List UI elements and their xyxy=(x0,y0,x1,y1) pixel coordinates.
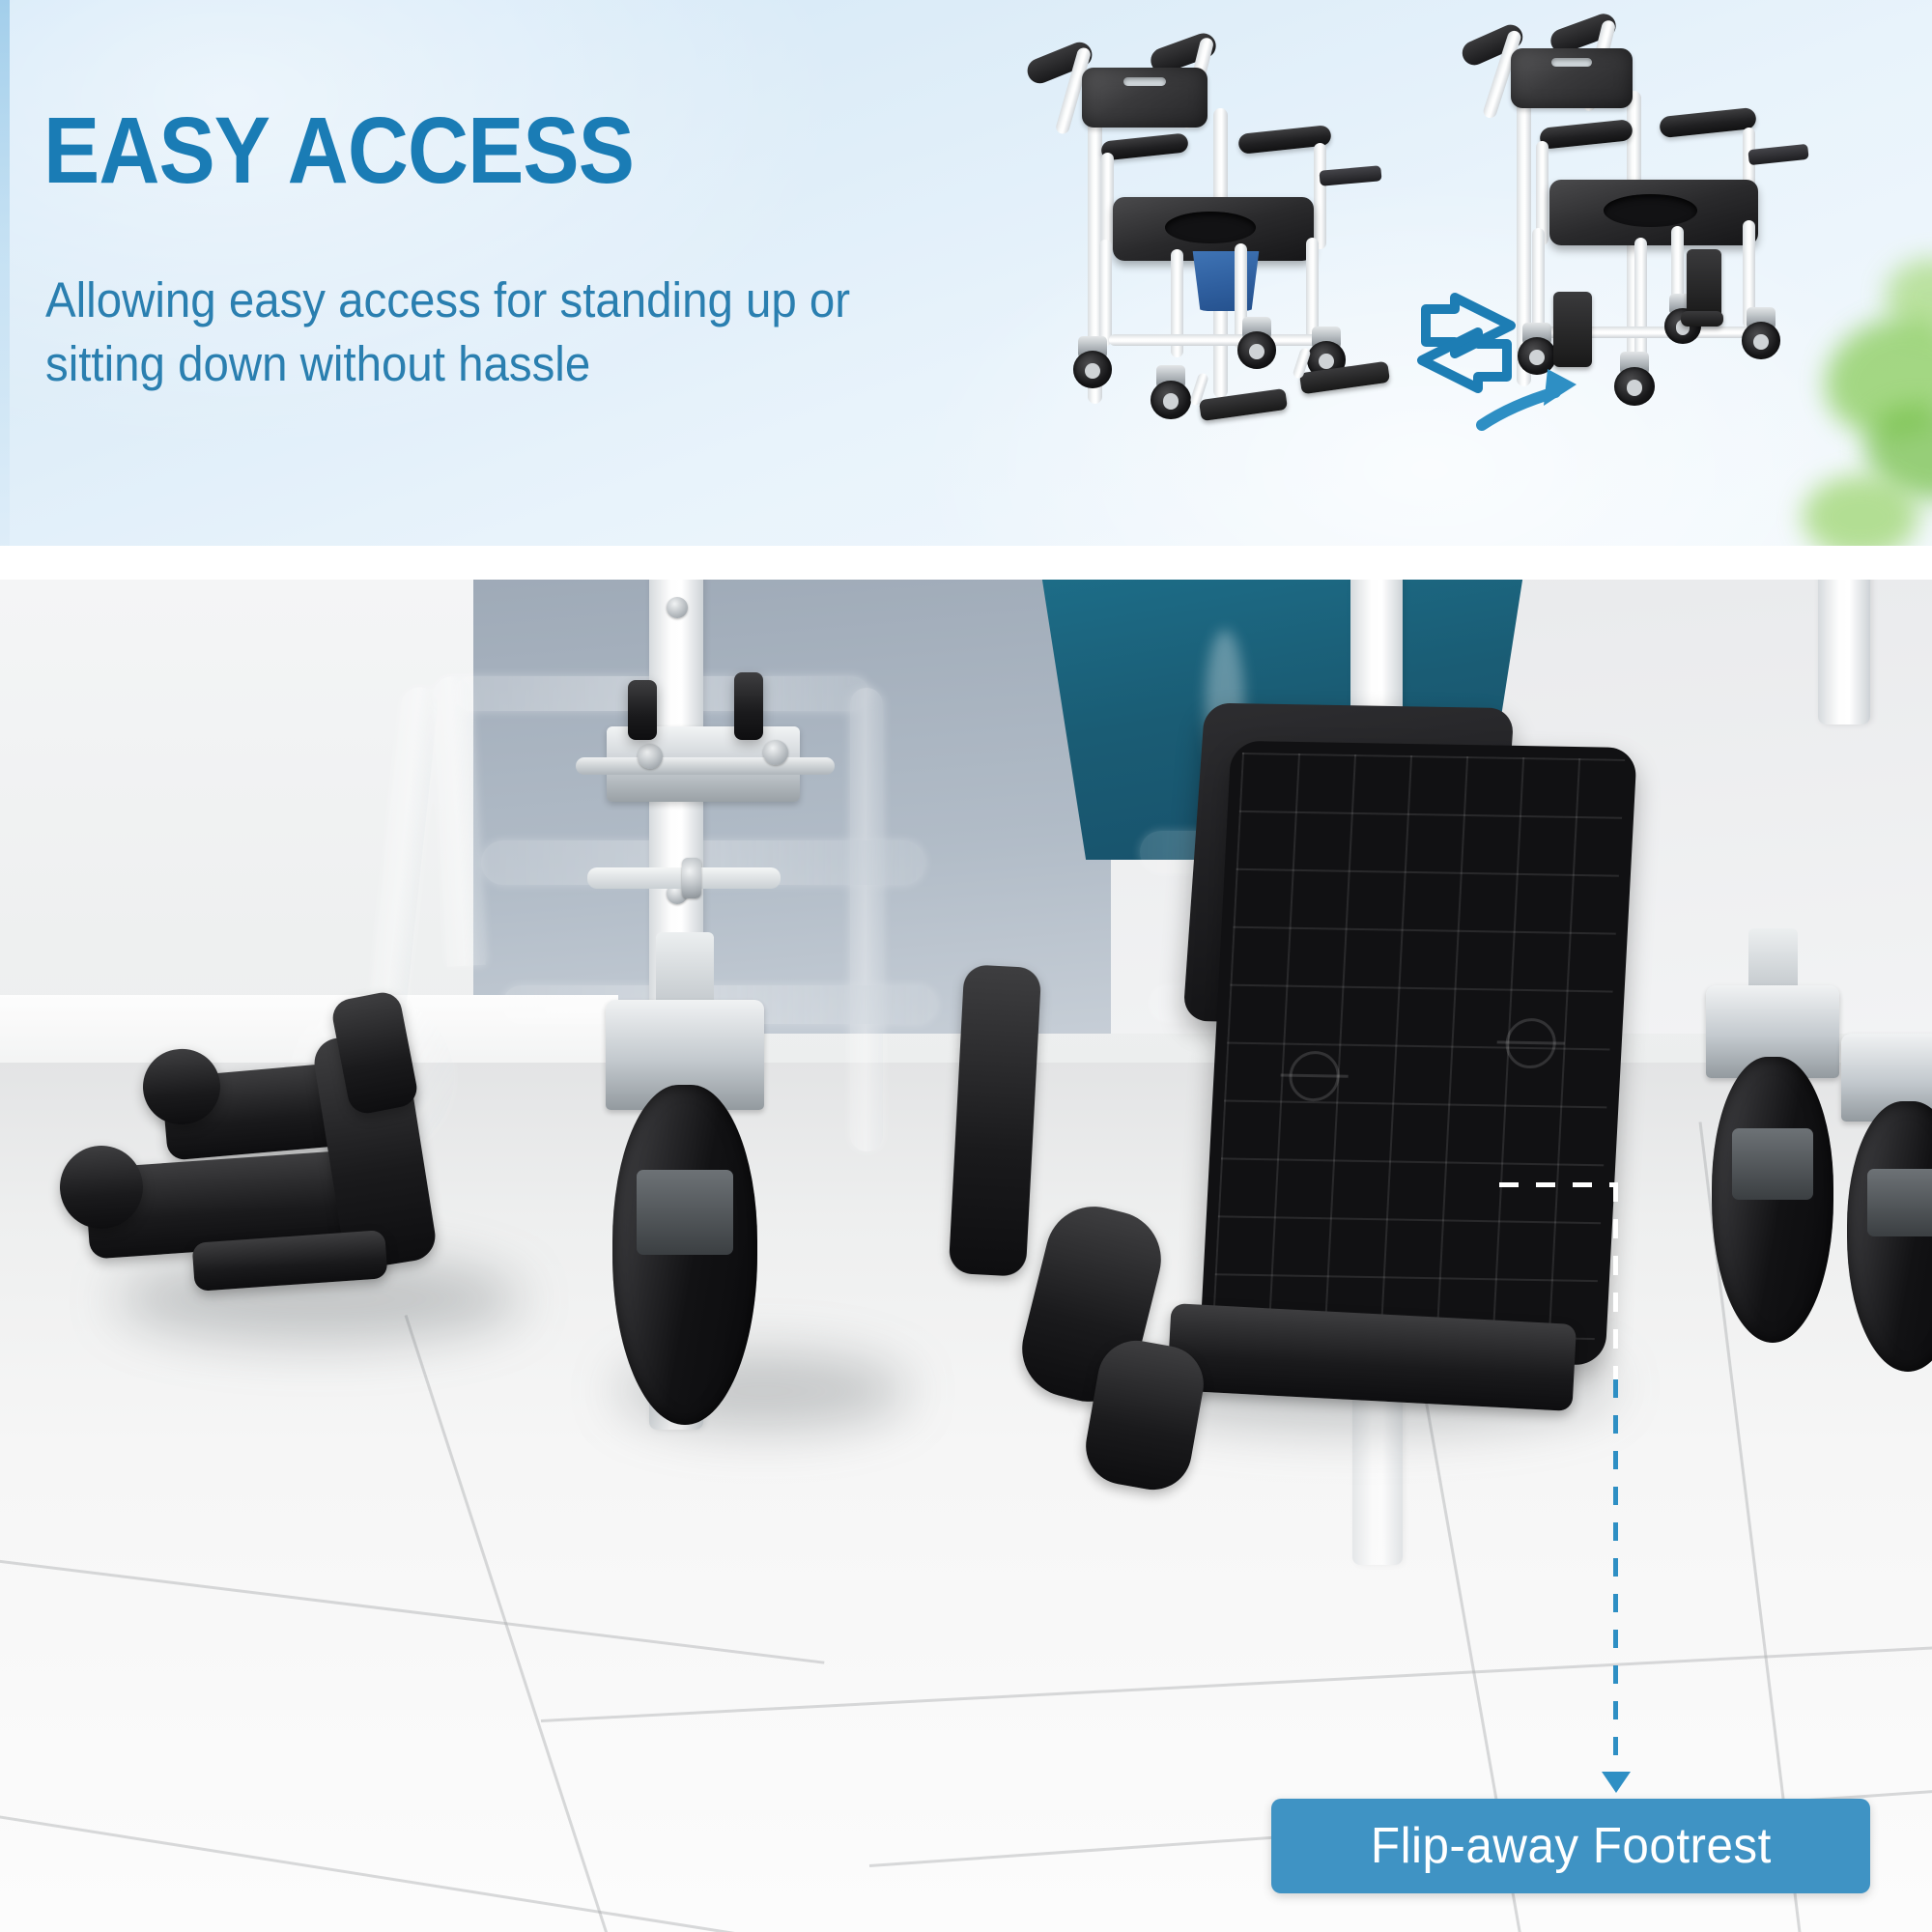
feature-banner: EASY ACCESS Allowing easy access for sta… xyxy=(0,0,1932,546)
frame-tube xyxy=(1314,143,1326,249)
frame-upright-tube xyxy=(1818,580,1870,724)
callout-leader-blue-vertical xyxy=(1613,1379,1618,1783)
banner-left-edge xyxy=(0,0,10,546)
caster-tyre xyxy=(612,1085,757,1425)
ghost-frame-tube xyxy=(850,688,883,1151)
backrest-pad xyxy=(1082,68,1207,128)
curved-flip-arrow-icon xyxy=(1476,342,1611,431)
callout-badge: Flip-away Footrest xyxy=(1271,1799,1870,1893)
wall-panel-grey xyxy=(473,580,1111,1034)
footrest-grid-texture xyxy=(1211,753,1625,1353)
hinge-tab xyxy=(734,672,763,740)
callout-leader-white-horizontal xyxy=(1499,1182,1617,1187)
frame-tube xyxy=(1306,238,1319,340)
release-lever xyxy=(1319,165,1381,186)
caster-brake-lever xyxy=(1867,1169,1932,1236)
caster-wheel xyxy=(1235,317,1279,369)
commode-seat xyxy=(1549,180,1758,245)
caster-tyre xyxy=(1847,1101,1932,1372)
callout-leader-white-vertical xyxy=(1613,1182,1618,1381)
caster-hub xyxy=(1085,363,1100,379)
thumbnail-chair-footrests-up xyxy=(1457,4,1862,533)
frame-tube xyxy=(1099,240,1112,346)
footrest-side-arm xyxy=(949,964,1042,1277)
frame-crossbar xyxy=(1109,334,1318,346)
caster-hub xyxy=(1627,380,1642,396)
bolt-icon xyxy=(682,858,701,898)
bolt-icon xyxy=(763,740,788,765)
product-photo: Flip-away Footrest xyxy=(0,580,1932,1932)
caster-hub xyxy=(1249,344,1264,359)
caster-wheel xyxy=(1070,336,1115,388)
caster-wheel-center xyxy=(599,1000,771,1425)
thumbnail-chair-footrests-down xyxy=(1024,8,1430,529)
product-feature-image: EASY ACCESS Allowing easy access for sta… xyxy=(0,0,1932,1932)
caster-wheel xyxy=(1148,365,1194,419)
caster-wheel xyxy=(1611,352,1658,406)
footrest-plate-down xyxy=(1199,388,1288,421)
release-lever xyxy=(1747,144,1808,165)
callout-badge-label: Flip-away Footrest xyxy=(1371,1817,1772,1875)
caster-brake-lever xyxy=(1732,1128,1813,1200)
armrest-pad xyxy=(1539,119,1634,150)
caster-wheel-far-right xyxy=(1835,1034,1932,1372)
caster-wheel-right xyxy=(1700,985,1845,1343)
footrest-plate-up xyxy=(1687,249,1721,319)
footrest-up-grid-plate xyxy=(1199,741,1637,1365)
footrest-bracket xyxy=(1681,311,1723,327)
commode-bucket xyxy=(1188,251,1264,311)
hinge-pin xyxy=(576,757,835,775)
bolt-icon xyxy=(667,597,688,618)
bolt-icon xyxy=(638,744,663,769)
callout-arrowhead-icon xyxy=(1602,1772,1631,1793)
caster-hub xyxy=(1163,393,1179,410)
frame-tube xyxy=(1634,238,1647,363)
caster-hub xyxy=(1319,354,1334,369)
backrest-pad xyxy=(1511,48,1633,108)
caster-hub xyxy=(1753,334,1769,350)
hinge-tab xyxy=(628,680,657,740)
subheadline: Allowing easy access for standing up or … xyxy=(45,269,944,397)
caster-brake-lever xyxy=(637,1170,733,1255)
caster-tyre xyxy=(1712,1057,1833,1343)
armrest-pad xyxy=(1100,132,1189,160)
headline: EASY ACCESS xyxy=(43,104,634,196)
caster-wheel xyxy=(1739,307,1783,359)
